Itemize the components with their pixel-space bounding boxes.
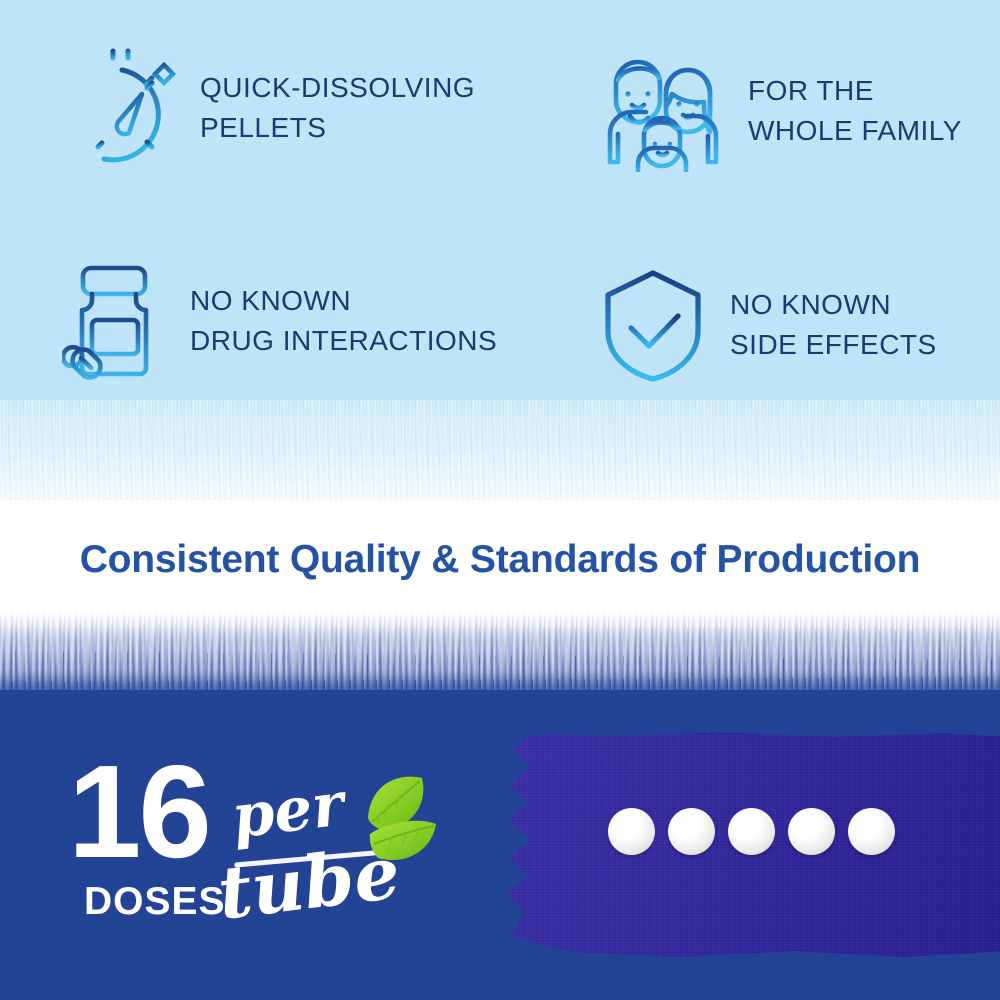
family-icon [600,50,724,172]
doses-block: 16 DOSES per tube [68,762,488,932]
feature-no-drug-interactions: NO KNOWN DRUG INTERACTIONS [62,262,497,380]
feature-label: QUICK-DISSOLVING PELLETS [200,68,475,148]
pellet-sphere-icon [668,808,715,855]
doses-label: DOSES [84,880,226,924]
feature-grid: QUICK-DISSOLVING PELLETS [0,0,1000,420]
doses-count: 16 [68,746,209,878]
page-title: Consistent Quality & Standards of Produc… [0,538,1000,582]
feature-quick-dissolving: QUICK-DISSOLVING PELLETS [60,46,475,170]
feature-whole-family: FOR THE WHOLE FAMILY [600,50,962,172]
feature-no-side-effects: NO KNOWN SIDE EFFECTS [600,266,937,384]
pellet-sphere-icon [788,808,835,855]
feature-label: NO KNOWN DRUG INTERACTIONS [190,281,497,361]
pellet-row [608,808,895,855]
feature-label: FOR THE WHOLE FAMILY [748,71,962,151]
stopwatch-icon [60,46,176,170]
pellet-sphere-icon [608,808,655,855]
shield-check-icon [600,266,706,384]
pill-bottle-icon [62,262,166,380]
feature-label: NO KNOWN SIDE EFFECTS [730,285,937,365]
product-infographic: QUICK-DISSOLVING PELLETS [0,0,1000,1000]
mint-leaf-icon [348,768,468,888]
pellet-sphere-icon [848,808,895,855]
pellet-sphere-icon [728,808,775,855]
